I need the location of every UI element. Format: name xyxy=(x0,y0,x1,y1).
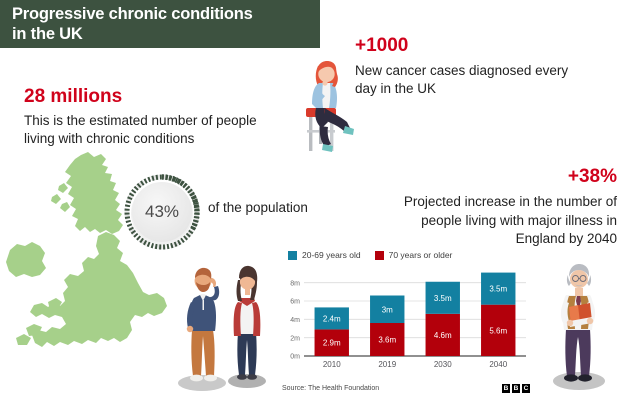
page-title: Progressive chronic conditions in the UK xyxy=(0,4,263,44)
svg-text:5.6m: 5.6m xyxy=(489,326,507,335)
bbc-logo-letter-2: B xyxy=(512,384,520,393)
stat-number-new-cases: +1000 xyxy=(355,35,617,57)
legend-label-70-plus: 70 years or older xyxy=(389,250,453,260)
svg-text:2030: 2030 xyxy=(434,360,452,369)
svg-text:4m: 4m xyxy=(290,317,300,324)
stat-body-new-cases: New cancer cases diagnosed every day in … xyxy=(355,62,617,98)
bbc-logo-letter-3: C xyxy=(522,384,530,393)
stat-block-new-cases: +1000 New cancer cases diagnosed every d… xyxy=(355,35,617,98)
legend-item-20-69: 20-69 years old xyxy=(288,250,361,260)
svg-text:2019: 2019 xyxy=(378,360,396,369)
svg-text:6m: 6m xyxy=(290,299,300,306)
stat-block-28-millions: 28 millions This is the estimated number… xyxy=(24,86,314,148)
infographic-root: Progressive chronic conditions in the UK… xyxy=(0,0,630,405)
woman-on-stool-illustration xyxy=(292,52,368,158)
svg-text:3m: 3m xyxy=(382,305,393,314)
source-credit: Source: The Health Foundation xyxy=(282,385,379,392)
svg-text:3.5m: 3.5m xyxy=(434,294,452,303)
header-title-box: Progressive chronic conditions in the UK xyxy=(0,0,320,48)
chart-plot-area: 0m2m4m6m8m2.9m2.4m20103.6m3m20194.6m3.5m… xyxy=(282,266,530,370)
stat-number-projected: +38% xyxy=(355,166,617,188)
legend-swatch-70-plus xyxy=(375,251,384,260)
svg-text:3.5m: 3.5m xyxy=(489,285,507,294)
chart-footer: Source: The Health Foundation B B C xyxy=(282,384,530,393)
svg-text:8m: 8m xyxy=(290,280,300,287)
population-donut-chart: 43% xyxy=(122,172,202,252)
svg-text:3.6m: 3.6m xyxy=(378,336,396,345)
bbc-logo-letter-1: B xyxy=(502,384,510,393)
legend-swatch-20-69 xyxy=(288,251,297,260)
bbc-logo: B B C xyxy=(502,384,530,393)
stat-body-projected: Projected increase in the number of peop… xyxy=(355,193,617,249)
svg-text:0m: 0m xyxy=(290,354,300,361)
donut-caption: of the population xyxy=(208,200,308,215)
svg-text:2.9m: 2.9m xyxy=(323,339,341,348)
stat-block-projected: +38% Projected increase in the number of… xyxy=(355,166,617,249)
chart-legend: 20-69 years old 70 years or older xyxy=(288,250,530,260)
legend-label-20-69: 20-69 years old xyxy=(302,250,361,260)
standing-couple-illustration xyxy=(170,258,275,398)
svg-text:2010: 2010 xyxy=(323,360,341,369)
svg-text:2m: 2m xyxy=(290,335,300,342)
svg-text:2040: 2040 xyxy=(489,360,507,369)
donut-value-label: 43% xyxy=(122,172,202,252)
svg-text:2.4m: 2.4m xyxy=(323,314,341,323)
legend-item-70-plus: 70 years or older xyxy=(375,250,453,260)
elderly-man-illustration xyxy=(540,255,618,395)
stat-body-28-millions: This is the estimated number of people l… xyxy=(24,112,314,148)
svg-text:4.6m: 4.6m xyxy=(434,331,452,340)
stacked-bar-chart: 20-69 years old 70 years or older 0m2m4m… xyxy=(282,250,530,398)
stat-number-28-millions: 28 millions xyxy=(24,86,314,108)
